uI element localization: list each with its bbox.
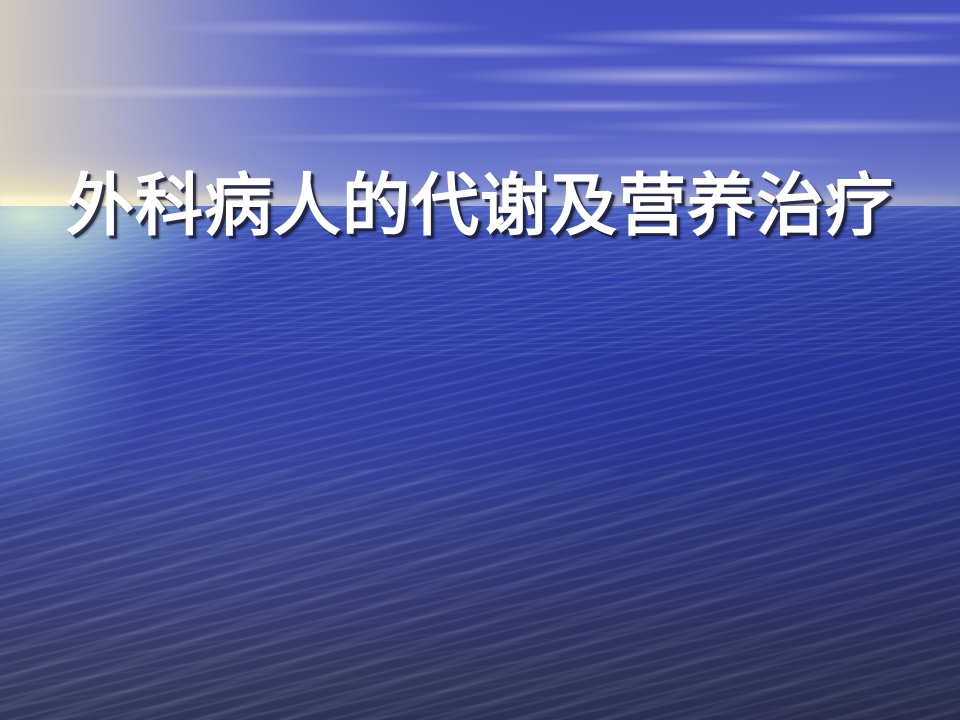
background-vignette — [0, 0, 960, 720]
slide-title: 外科病人的代谢及营养治疗 — [36, 162, 924, 252]
title-slide: 外科病人的代谢及营养治疗 — [0, 0, 960, 720]
title-placeholder: 外科病人的代谢及营养治疗 — [36, 162, 924, 252]
